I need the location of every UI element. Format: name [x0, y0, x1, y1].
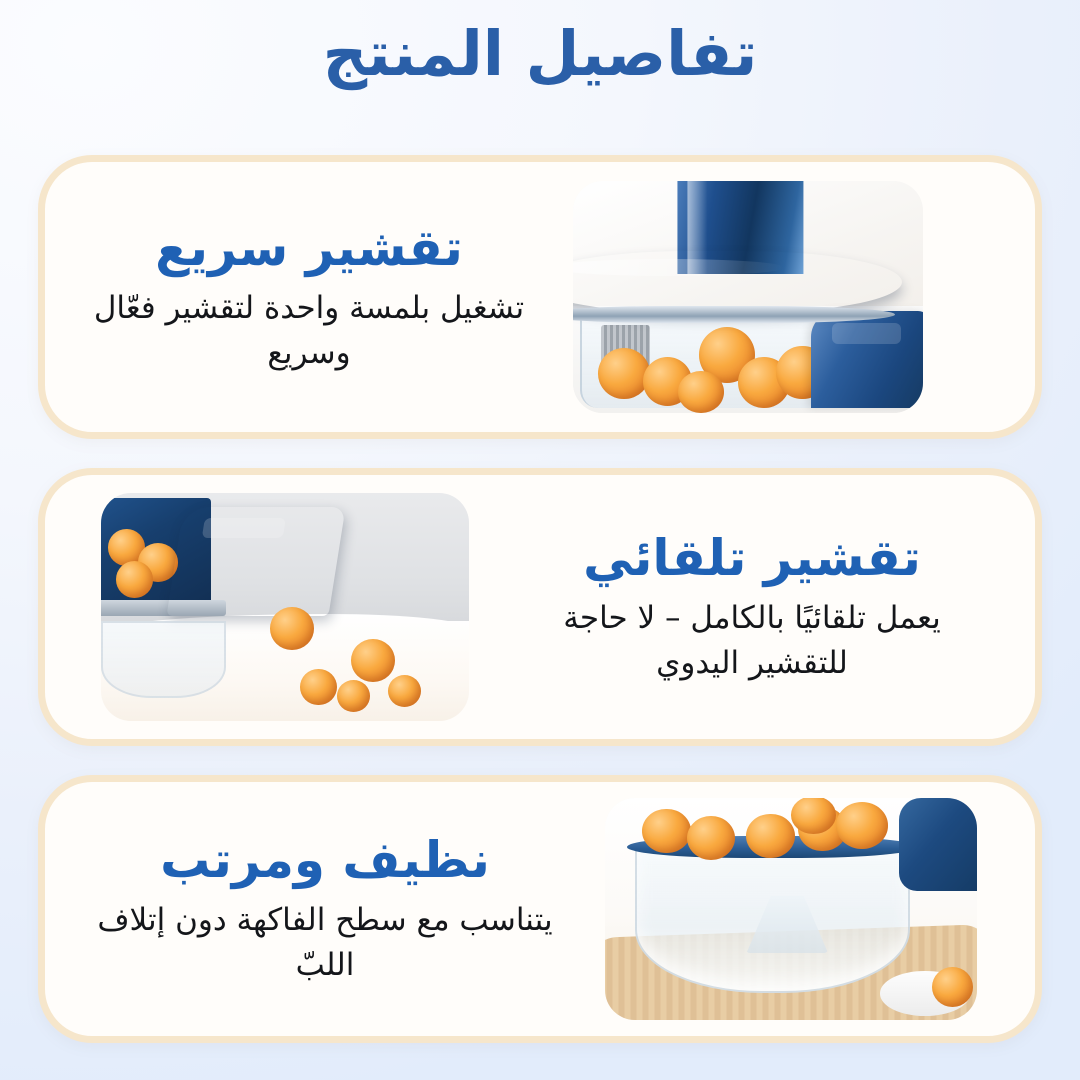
fruit [116, 561, 153, 597]
feature-card-fast-peeling: تقشير سريع تشغيل بلمسة واحدة لتقشير فعّا… [38, 155, 1042, 439]
page-title: تفاصيل المنتج [0, 12, 1080, 96]
feature-body: يعمل تلقائيًا بالكامل – لا حاجة للتقشير … [522, 596, 982, 684]
feature-heading: تقشير تلقائي [483, 529, 1021, 588]
feature-body: تشغيل بلمسة واحدة لتقشير فعّال وسريع [79, 286, 539, 374]
fruit [337, 680, 370, 712]
feature-image-fast-peeling [573, 181, 923, 413]
peeler-arm [899, 798, 977, 891]
fruit [746, 814, 794, 858]
feature-copy-automatic-peeling: تقشير تلقائي يعمل تلقائيًا بالكامل – لا … [469, 529, 1035, 684]
feature-card-automatic-peeling: تقشير تلقائي يعمل تلقائيًا بالكامل – لا … [38, 468, 1042, 746]
feature-copy-clean-tidy: نظيف ومرتب يتناسب مع سطح الفاكهة دون إتل… [45, 831, 605, 986]
feature-image-automatic-peeling [101, 493, 469, 721]
page-background: تفاصيل المنتج تقشير سريع تشغيل بلمسة واح… [0, 0, 1080, 1080]
feature-image-clean-tidy [605, 798, 977, 1020]
fruit [642, 809, 690, 853]
feature-heading: تقشير سريع [59, 219, 559, 278]
fruit [678, 371, 724, 413]
peeler-spout [811, 311, 923, 408]
peeler-lid-rim [573, 306, 895, 322]
fruit [932, 967, 973, 1007]
feature-body: يتناسب مع سطح الفاكهة دون إتلاف اللبّ [95, 898, 555, 986]
fruit [791, 798, 836, 834]
fruit [687, 816, 735, 860]
fruit [300, 669, 337, 705]
peeler-chute [166, 507, 345, 616]
peeler-lid [573, 251, 902, 314]
feature-card-clean-tidy: نظيف ومرتب يتناسب مع سطح الفاكهة دون إتل… [38, 775, 1042, 1043]
glass-bowl [101, 621, 226, 699]
feature-copy-fast-peeling: تقشير سريع تشغيل بلمسة واحدة لتقشير فعّا… [45, 219, 573, 374]
fruit [598, 348, 651, 399]
feature-heading: نظيف ومرتب [59, 831, 591, 890]
fruit [836, 802, 888, 849]
